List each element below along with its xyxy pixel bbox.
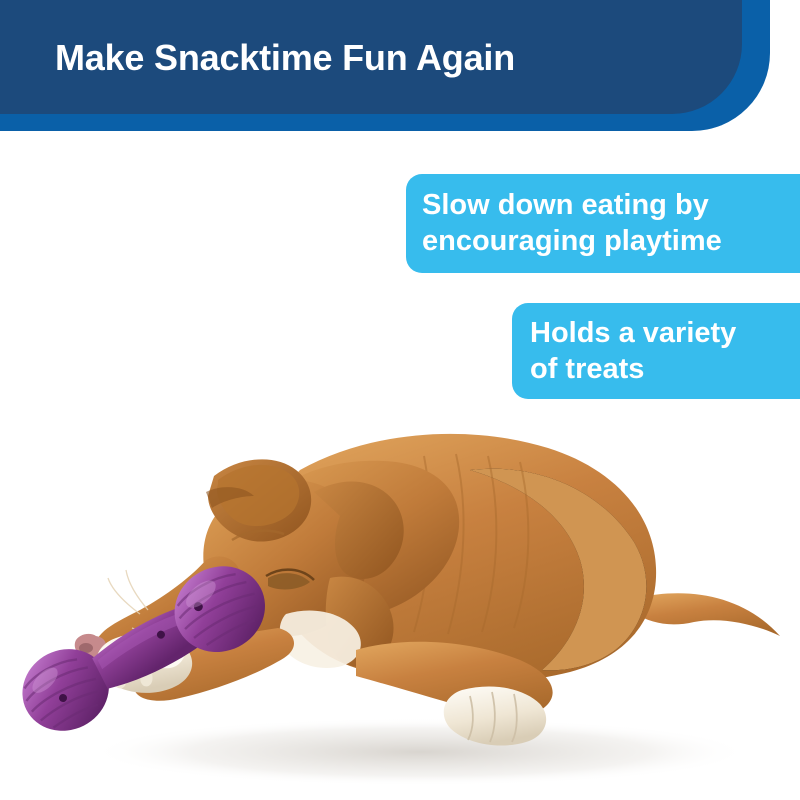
callout-line-2: of treats: [530, 351, 800, 387]
callout-line-2: encouraging playtime: [422, 223, 800, 259]
callout-slow-down-eating: Slow down eating by encouraging playtime: [406, 174, 800, 273]
dog-tail: [632, 593, 780, 636]
ground-shadow: [90, 718, 750, 786]
dog: [75, 434, 780, 746]
product-feature-banner: Make Snacktime Fun Again Slow down eatin…: [0, 0, 800, 800]
callout-line-1: Holds a variety: [530, 315, 800, 351]
product-photo: [0, 400, 800, 800]
page-title: Make Snacktime Fun Again: [55, 36, 515, 80]
header-banner: Make Snacktime Fun Again: [0, 0, 800, 132]
dog-with-toy-illustration: [0, 400, 800, 800]
callout-line-1: Slow down eating by: [422, 187, 800, 223]
callout-holds-variety-treats: Holds a variety of treats: [512, 303, 800, 399]
